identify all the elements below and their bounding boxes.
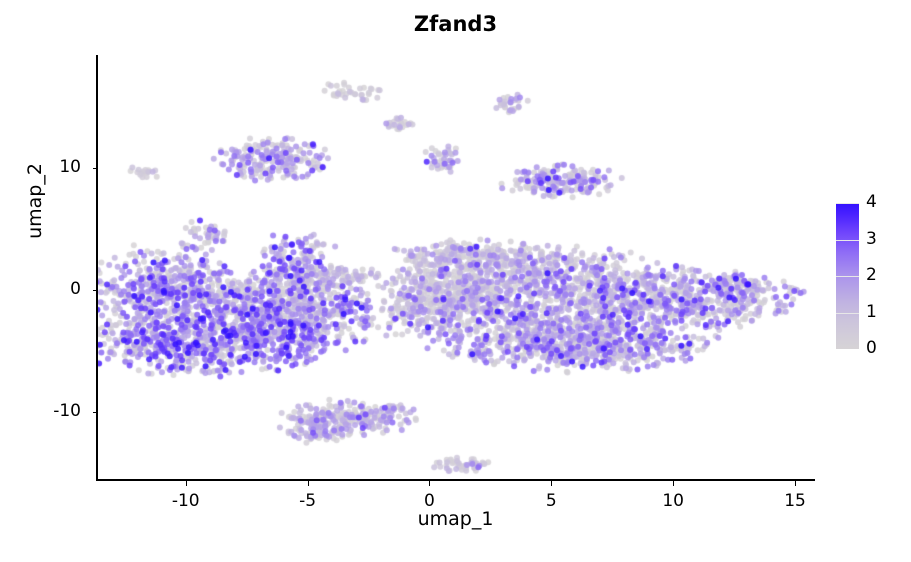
x-tick-mark [795,481,796,486]
scatter-plot-canvas [98,55,817,481]
x-tick-mark [551,481,552,486]
y-axis-label: umap_2 [24,81,46,321]
x-axis-label: umap_1 [96,508,815,530]
y-tick-mark [93,412,98,413]
plot-axes: -10-5051015 -10010 [96,55,815,481]
colorbar-gradient [836,203,859,349]
y-axis-label-host: umap_2 [0,0,1,1]
x-tick-mark [673,481,674,486]
y-tick-label: -10 [21,401,81,421]
colorbar-tick-label: 1 [866,302,877,322]
colorbar-tick-label: 2 [866,265,877,285]
colorbar-tick-label: 4 [866,192,877,212]
x-tick-mark [429,481,430,486]
colorbar-tick-label: 3 [866,229,877,249]
colorbar-tick-label: 0 [866,338,877,358]
chart-title-wrap: Zfand3 [96,12,815,36]
x-tick-mark [308,481,309,486]
page-title: Zfand3 [96,12,815,36]
x-tick-mark [186,481,187,486]
figure-canvas: Zfand3 -10-5051015 -10010 umap_1 umap_2 … [0,0,911,562]
y-tick-mark [93,168,98,169]
y-tick-mark [93,290,98,291]
